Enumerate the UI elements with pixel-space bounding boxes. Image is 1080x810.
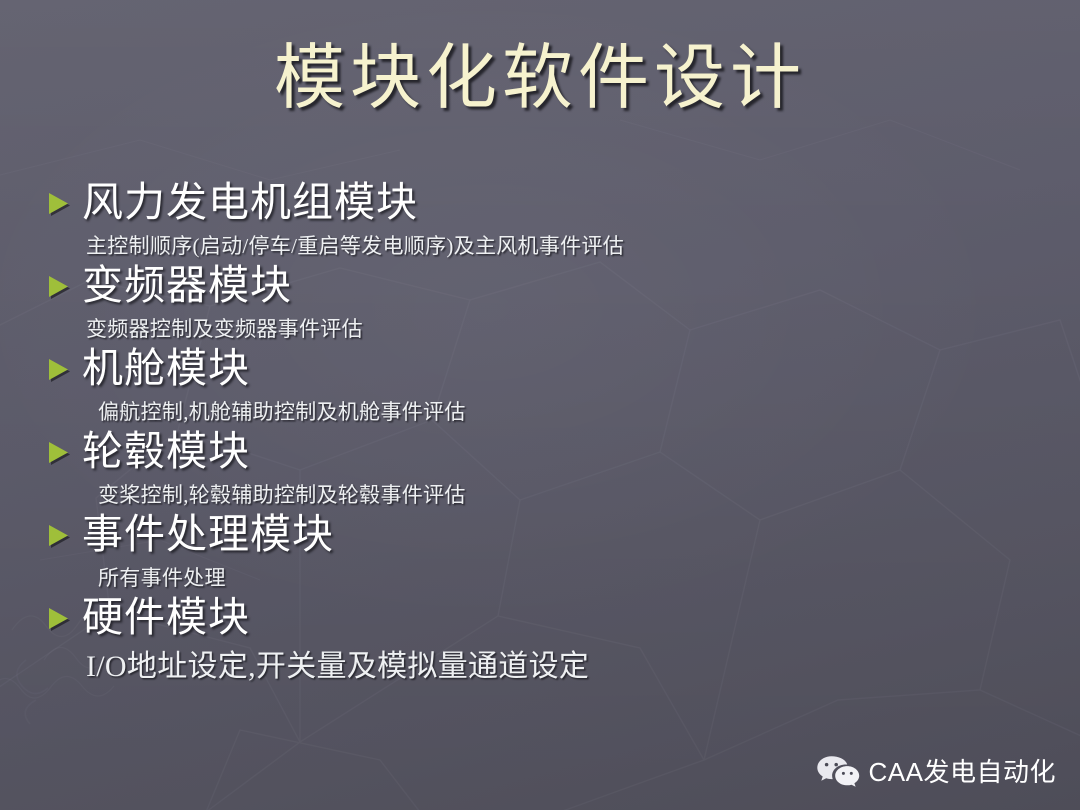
bullet-heading-row: 风力发电机组模块 <box>0 178 1080 227</box>
page-title: 模块化软件设计 <box>0 44 1080 115</box>
triangle-right-icon <box>45 190 71 217</box>
list-item-subtitle: 偏航控制,机舱辅助控制及机舱事件评估 <box>0 393 1080 427</box>
triangle-right-icon <box>45 273 71 300</box>
list-item-subtitle: 所有事件处理 <box>0 559 1080 593</box>
triangle-right-icon <box>45 439 71 466</box>
list-item-subtitle: 主控制顺序(启动/停车/重启等发电顺序)及主风机事件评估 <box>0 227 1080 261</box>
list-item: 风力发电机组模块 主控制顺序(启动/停车/重启等发电顺序)及主风机事件评估 <box>0 178 1080 261</box>
triangle-right-icon <box>45 356 71 383</box>
presentation-slide: 模块化软件设计 风力发电机组模块 主控制顺序(启动/停车/重启等发电顺序)及主风… <box>0 0 1080 810</box>
brand-label: CAA发电自动化 <box>869 759 1056 785</box>
list-item-subtitle: 变桨控制,轮毂辅助控制及轮毂事件评估 <box>0 476 1080 510</box>
bullet-heading-row: 变频器模块 <box>0 261 1080 310</box>
list-item-title: 机舱模块 <box>82 348 250 389</box>
list-item: 事件处理模块 所有事件处理 <box>0 510 1080 593</box>
bullet-heading-row: 机舱模块 <box>0 344 1080 393</box>
triangle-right-icon <box>45 605 71 632</box>
list-item-title: 硬件模块 <box>82 597 250 638</box>
list-item-subtitle: I/O地址设定,开关量及模拟量通道设定 <box>0 642 1080 686</box>
list-item: 变频器模块 变频器控制及变频器事件评估 <box>0 261 1080 344</box>
bullet-heading-row: 轮毂模块 <box>0 427 1080 476</box>
footer-watermark: CAA发电自动化 <box>815 754 1056 790</box>
bullet-heading-row: 事件处理模块 <box>0 510 1080 559</box>
list-item: 机舱模块 偏航控制,机舱辅助控制及机舱事件评估 <box>0 344 1080 427</box>
list-item-subtitle: 变频器控制及变频器事件评估 <box>0 310 1080 344</box>
list-item: 轮毂模块 变桨控制,轮毂辅助控制及轮毂事件评估 <box>0 427 1080 510</box>
list-item-title: 风力发电机组模块 <box>82 182 418 223</box>
list-item-title: 事件处理模块 <box>82 514 334 555</box>
bullet-heading-row: 硬件模块 <box>0 593 1080 642</box>
list-item-title: 变频器模块 <box>82 265 292 306</box>
wechat-icon <box>815 754 861 790</box>
bullet-list: 风力发电机组模块 主控制顺序(启动/停车/重启等发电顺序)及主风机事件评估 变频… <box>0 178 1080 686</box>
triangle-right-icon <box>45 522 71 549</box>
list-item-title: 轮毂模块 <box>82 431 250 472</box>
list-item: 硬件模块 I/O地址设定,开关量及模拟量通道设定 <box>0 593 1080 686</box>
